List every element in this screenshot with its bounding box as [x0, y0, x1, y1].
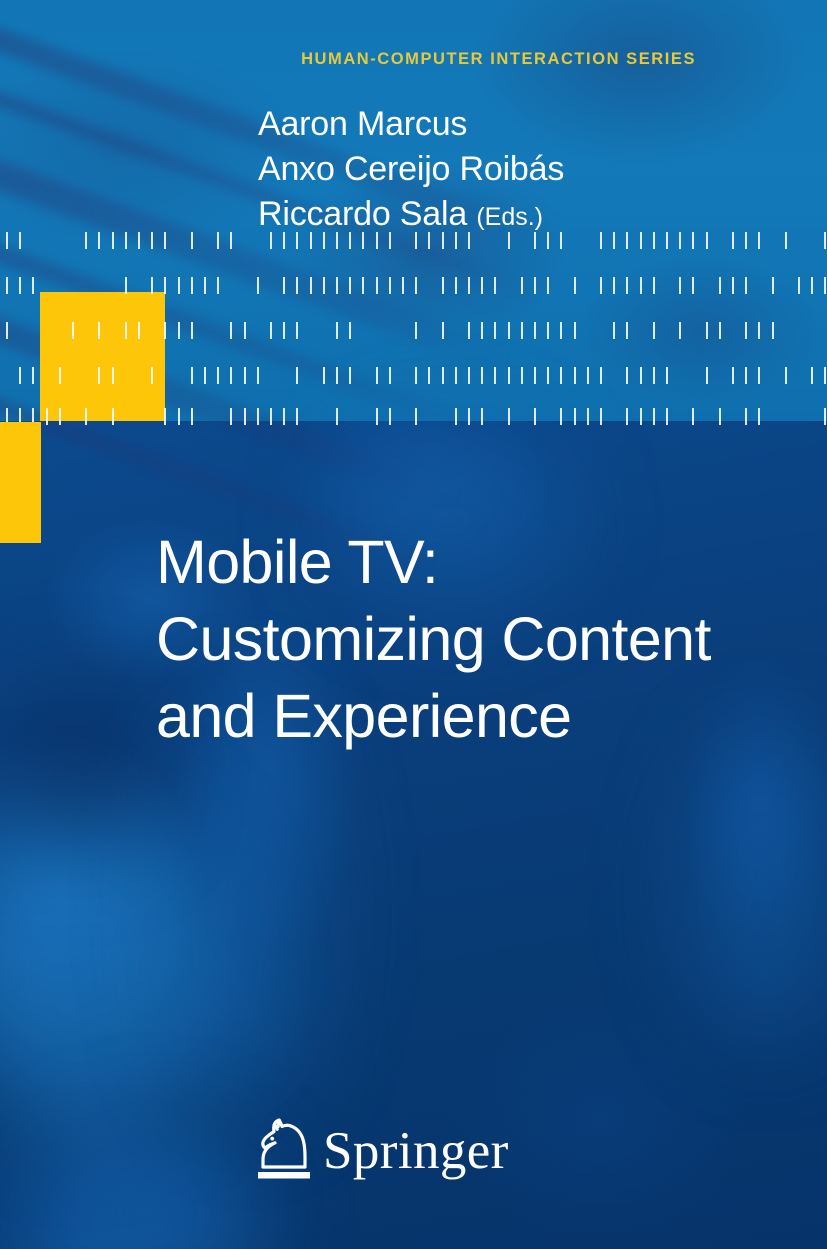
title-line: Customizing Content — [156, 601, 711, 678]
springer-knight-icon — [249, 1114, 315, 1188]
springer-wordmark: Springer — [323, 1120, 509, 1182]
book-title: Mobile TV: Customizing Content and Exper… — [156, 524, 711, 755]
yellow-square-block — [40, 292, 165, 421]
author-name-with-editors: Riccardo Sala (Eds.) — [258, 192, 564, 240]
author-name: Riccardo Sala — [258, 195, 476, 233]
springer-logo: Springer — [249, 1114, 549, 1194]
author-name: Aaron Marcus — [258, 102, 564, 147]
yellow-rect-block — [0, 422, 41, 543]
book-cover: HUMAN-COMPUTER INTERACTION SERIES Aaron … — [0, 0, 827, 1249]
title-line: and Experience — [156, 678, 711, 755]
title-line: Mobile TV: — [156, 524, 711, 601]
authors-block: Aaron Marcus Anxo Cereijo Roibás Riccard… — [258, 102, 564, 240]
author-name: Anxo Cereijo Roibás — [258, 147, 564, 192]
series-title: HUMAN-COMPUTER INTERACTION SERIES — [301, 50, 696, 69]
editors-suffix: (Eds.) — [476, 203, 543, 231]
